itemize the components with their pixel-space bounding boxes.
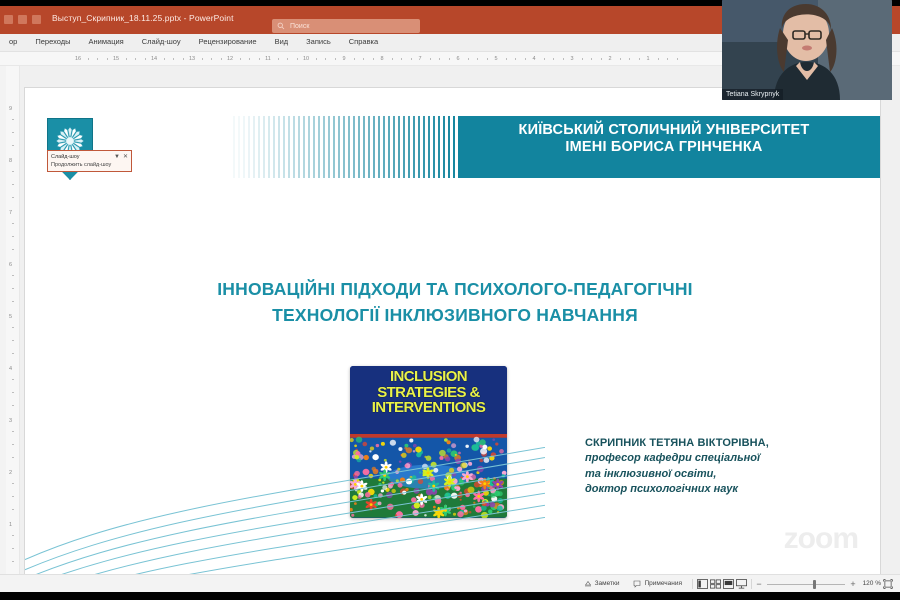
ruler-tick bbox=[354, 58, 355, 60]
ruler-tick bbox=[677, 58, 678, 60]
header-stripe bbox=[418, 116, 420, 178]
v-ruler-tick bbox=[12, 301, 14, 302]
ruler-tick bbox=[335, 58, 336, 60]
header-stripe bbox=[373, 116, 375, 178]
status-divider bbox=[692, 579, 693, 589]
header-stripe bbox=[348, 116, 350, 178]
header-stripe bbox=[398, 116, 400, 178]
university-name: КИЇВСЬКИЙ СТОЛИЧНИЙ УНІВЕРСИТЕТ ІМЕНІ БО… bbox=[464, 122, 864, 156]
header-stripe bbox=[388, 116, 390, 178]
slide-1[interactable]: КИЇВСЬКИЙ СТОЛИЧНИЙ УНІВЕРСИТЕТ ІМЕНІ БО… bbox=[25, 88, 880, 574]
ruler-mark-11: 5 bbox=[494, 56, 497, 62]
ruler-mark-15: 1 bbox=[646, 56, 649, 62]
header-stripe bbox=[313, 116, 315, 178]
notes-label: Заметки bbox=[595, 580, 620, 587]
header-stripe bbox=[338, 116, 340, 178]
ruler-tick bbox=[316, 58, 317, 60]
v-ruler-tick bbox=[12, 223, 14, 224]
v-ruler-tick bbox=[12, 327, 14, 328]
search-placeholder: Поиск bbox=[290, 23, 309, 30]
ruler-tick bbox=[544, 58, 545, 60]
v-ruler-tick bbox=[12, 171, 14, 172]
ruler-tick bbox=[126, 58, 127, 60]
slide-title: ІННОВАЦІЙНІ ПІДХОДИ ТА ПСИХОЛОГО-ПЕДАГОГ… bbox=[85, 276, 825, 328]
v-ruler-tick bbox=[12, 457, 14, 458]
header-stripe bbox=[443, 116, 445, 178]
header-stripe bbox=[408, 116, 410, 178]
ruler-tick bbox=[620, 58, 621, 60]
slideshow-popup-title: Слайд-шоу bbox=[51, 154, 111, 160]
ruler-tick bbox=[183, 58, 184, 60]
ruler-mark-0: 16 bbox=[75, 56, 81, 62]
v-ruler-mark-7: 2 bbox=[9, 470, 12, 476]
header-stripe bbox=[438, 116, 440, 178]
ruler-mark-12: 4 bbox=[532, 56, 535, 62]
v-ruler-tick bbox=[12, 483, 14, 484]
window-title: Выступ_Скрипник_18.11.25.pptx - PowerPoi… bbox=[52, 13, 234, 23]
ruler-tick bbox=[325, 58, 326, 60]
ruler-tick bbox=[553, 58, 554, 60]
undo-icon[interactable] bbox=[32, 15, 41, 24]
ruler-tick bbox=[506, 58, 507, 60]
ribbon-tab-0[interactable]: ор bbox=[0, 37, 26, 46]
slide-editing-canvas[interactable]: КИЇВСЬКИЙ СТОЛИЧНИЙ УНІВЕРСИТЕТ ІМЕНІ БО… bbox=[20, 66, 900, 574]
ruler-mark-3: 13 bbox=[189, 56, 195, 62]
ruler-tick bbox=[392, 58, 393, 60]
header-stripe bbox=[453, 116, 455, 178]
book-cover-artwork bbox=[350, 434, 507, 518]
fit-to-window-icon bbox=[883, 579, 893, 589]
header-stripe bbox=[268, 116, 270, 178]
view-reading-button[interactable] bbox=[722, 578, 735, 590]
header-stripe bbox=[448, 116, 450, 178]
v-ruler-tick bbox=[12, 496, 14, 497]
ruler-tick bbox=[287, 58, 288, 60]
book-title-line3: INTERVENTIONS bbox=[350, 400, 507, 416]
ruler-tick bbox=[211, 58, 212, 60]
ruler-tick bbox=[525, 58, 526, 60]
v-ruler-tick bbox=[12, 145, 14, 146]
header-stripe bbox=[288, 116, 290, 178]
ruler-tick bbox=[658, 58, 659, 60]
ribbon-tab-1[interactable]: Переходы bbox=[26, 37, 79, 46]
university-name-line1: КИЇВСЬКИЙ СТОЛИЧНИЙ УНІВЕРСИТЕТ bbox=[464, 122, 864, 139]
ruler-tick bbox=[164, 58, 165, 60]
header-stripe bbox=[323, 116, 325, 178]
save-icon[interactable] bbox=[18, 15, 27, 24]
header-stripe bbox=[363, 116, 365, 178]
v-ruler-tick bbox=[12, 119, 14, 120]
header-stripe bbox=[308, 116, 310, 178]
presenter-role-line1: професор кафедри спеціальної bbox=[585, 451, 880, 467]
ruler-tick bbox=[601, 58, 602, 60]
v-ruler-tick bbox=[12, 509, 14, 510]
v-ruler-tick bbox=[12, 405, 14, 406]
book-title-line1: INCLUSION bbox=[350, 369, 507, 385]
ruler-tick bbox=[363, 58, 364, 60]
zoom-slider-handle[interactable] bbox=[813, 580, 816, 589]
slideshow-resume-action[interactable]: Продолжить слайд-шоу bbox=[51, 162, 111, 168]
v-ruler-tick bbox=[12, 132, 14, 133]
ruler-tick bbox=[249, 58, 250, 60]
header-stripe bbox=[258, 116, 260, 178]
header-stripe bbox=[353, 116, 355, 178]
chevron-down-icon[interactable]: ▼ bbox=[114, 154, 120, 160]
participant-name: Tetiana Skrypnyk bbox=[726, 91, 779, 98]
zoom-out-button[interactable]: − bbox=[755, 579, 763, 589]
fit-slide-button[interactable] bbox=[881, 578, 894, 590]
notes-icon bbox=[584, 580, 592, 588]
slideshow-icon bbox=[736, 579, 747, 589]
ruler-tick bbox=[582, 58, 583, 60]
zoom-slider-track bbox=[767, 584, 845, 585]
vertical-ruler[interactable]: 987654321 bbox=[6, 66, 20, 574]
v-ruler-mark-0: 9 bbox=[9, 106, 12, 112]
ruler-tick bbox=[411, 58, 412, 60]
slide-sorter-icon bbox=[710, 579, 721, 589]
notes-button[interactable]: Заметки bbox=[577, 580, 627, 588]
view-slideshow-button[interactable] bbox=[735, 578, 748, 590]
status-divider-2 bbox=[751, 579, 752, 589]
view-slide-sorter-button[interactable] bbox=[709, 578, 722, 590]
v-ruler-tick bbox=[12, 444, 14, 445]
header-stripe bbox=[328, 116, 330, 178]
presenter-role-line2: та інклюзивної освіти, bbox=[585, 467, 880, 483]
university-name-line2: ІМЕНІ БОРИСА ГРІНЧЕНКА bbox=[464, 139, 864, 156]
v-ruler-mark-8: 1 bbox=[9, 522, 12, 528]
ruler-tick bbox=[107, 58, 108, 60]
ruler-tick bbox=[515, 58, 516, 60]
ruler-tick bbox=[629, 58, 630, 60]
v-ruler-tick bbox=[12, 431, 14, 432]
header-stripe bbox=[238, 116, 240, 178]
v-ruler-tick bbox=[12, 379, 14, 380]
v-ruler-tick bbox=[12, 197, 14, 198]
ruler-tick bbox=[487, 58, 488, 60]
search-box[interactable]: Поиск bbox=[272, 19, 420, 33]
v-ruler-tick bbox=[12, 340, 14, 341]
v-ruler-tick bbox=[12, 353, 14, 354]
zoom-level-label[interactable]: 120 % bbox=[857, 580, 881, 587]
v-ruler-mark-3: 6 bbox=[9, 262, 12, 268]
ruler-tick bbox=[145, 58, 146, 60]
header-stripes-decoration bbox=[230, 116, 460, 178]
ruler-tick bbox=[477, 58, 478, 60]
header-stripe bbox=[283, 116, 285, 178]
header-stripe bbox=[423, 116, 425, 178]
ribbon-tab-2[interactable]: Анимация bbox=[80, 37, 133, 46]
ruler-mark-8: 8 bbox=[380, 56, 383, 62]
header-stripe bbox=[298, 116, 300, 178]
ruler-mark-14: 2 bbox=[608, 56, 611, 62]
close-icon[interactable]: ✕ bbox=[123, 153, 128, 160]
book-title-line2: STRATEGIES & bbox=[350, 385, 507, 401]
slideshow-popup[interactable]: Слайд-шоу ▼ ✕ Продолжить слайд-шоу bbox=[47, 150, 132, 172]
ruler-mark-10: 6 bbox=[456, 56, 459, 62]
slideshow-popup-header: Слайд-шоу ▼ ✕ bbox=[51, 153, 128, 160]
header-stripe bbox=[253, 116, 255, 178]
ruler-mark-2: 14 bbox=[151, 56, 157, 62]
v-ruler-mark-5: 4 bbox=[9, 366, 12, 372]
ruler-tick bbox=[430, 58, 431, 60]
slide-title-line1: ІННОВАЦІЙНІ ПІДХОДИ ТА ПСИХОЛОГО-ПЕДАГОГ… bbox=[85, 276, 825, 302]
ruler-tick bbox=[563, 58, 564, 60]
comments-label: Примечания bbox=[644, 580, 682, 587]
v-ruler-tick bbox=[12, 288, 14, 289]
v-ruler-tick bbox=[12, 392, 14, 393]
search-icon bbox=[277, 22, 285, 30]
ribbon-tab-7[interactable]: Справка bbox=[340, 37, 387, 46]
reading-view-icon bbox=[723, 579, 734, 589]
ribbon-tab-4[interactable]: Рецензирование bbox=[190, 37, 266, 46]
header-stripe bbox=[358, 116, 360, 178]
header-stripe bbox=[243, 116, 245, 178]
zoom-shared-screen-window: Выступ_Скрипник_18.11.25.pptx - PowerPoi… bbox=[0, 0, 900, 600]
ruler-tick bbox=[240, 58, 241, 60]
ruler-mark-6: 10 bbox=[303, 56, 309, 62]
v-ruler-tick bbox=[12, 236, 14, 237]
ruler-tick bbox=[88, 58, 89, 60]
ruler-tick bbox=[297, 58, 298, 60]
v-ruler-tick bbox=[12, 184, 14, 185]
zoom-watermark: zoom bbox=[784, 522, 858, 556]
book-cover-image: INCLUSION STRATEGIES & INTERVENTIONS bbox=[350, 366, 507, 518]
ribbon-tab-5[interactable]: Вид bbox=[266, 37, 298, 46]
ruler-tick bbox=[202, 58, 203, 60]
view-normal-button[interactable] bbox=[696, 578, 709, 590]
ruler-tick bbox=[439, 58, 440, 60]
presenter-info: СКРИПНИК ТЕТЯНА ВІКТОРІВНА, професор каф… bbox=[585, 436, 880, 498]
header-stripe bbox=[393, 116, 395, 178]
presenter-name: СКРИПНИК ТЕТЯНА ВІКТОРІВНА, bbox=[585, 436, 880, 451]
header-stripe bbox=[303, 116, 305, 178]
header-stripe bbox=[248, 116, 250, 178]
ruler-tick bbox=[173, 58, 174, 60]
status-bar: Заметки Примечания bbox=[0, 574, 900, 592]
comments-button[interactable]: Примечания bbox=[626, 580, 689, 588]
ruler-mark-7: 9 bbox=[342, 56, 345, 62]
header-stripe bbox=[333, 116, 335, 178]
ruler-tick bbox=[221, 58, 222, 60]
header-stripe bbox=[318, 116, 320, 178]
v-ruler-tick bbox=[12, 249, 14, 250]
ribbon-tab-3[interactable]: Слайд-шоу bbox=[133, 37, 190, 46]
header-stripe bbox=[273, 116, 275, 178]
v-ruler-tick bbox=[12, 548, 14, 549]
ruler-tick bbox=[639, 58, 640, 60]
header-stripe bbox=[383, 116, 385, 178]
v-ruler-mark-1: 8 bbox=[9, 158, 12, 164]
header-stripe bbox=[368, 116, 370, 178]
quick-access-toolbar[interactable] bbox=[4, 15, 41, 24]
header-stripe bbox=[378, 116, 380, 178]
zoom-in-button[interactable]: + bbox=[849, 579, 857, 589]
comment-icon bbox=[633, 580, 641, 588]
ruler-mark-4: 12 bbox=[227, 56, 233, 62]
ruler-tick bbox=[373, 58, 374, 60]
ruler-tick bbox=[591, 58, 592, 60]
ruler-tick bbox=[449, 58, 450, 60]
ruler-tick bbox=[97, 58, 98, 60]
zoom-slider[interactable] bbox=[767, 579, 845, 589]
header-stripe bbox=[413, 116, 415, 178]
v-ruler-tick bbox=[12, 275, 14, 276]
header-stripe bbox=[433, 116, 435, 178]
header-stripe bbox=[403, 116, 405, 178]
ribbon-tab-6[interactable]: Запись bbox=[297, 37, 340, 46]
ruler-tick bbox=[401, 58, 402, 60]
ruler-tick bbox=[135, 58, 136, 60]
participant-name-badge: Tetiana Skrypnyk bbox=[722, 89, 783, 100]
webcam-thumbnail[interactable]: Tetiana Skrypnyk bbox=[722, 0, 892, 100]
v-ruler-mark-2: 7 bbox=[9, 210, 12, 216]
header-stripe bbox=[428, 116, 430, 178]
v-ruler-mark-6: 3 bbox=[9, 418, 12, 424]
ribbon-tabs: орПереходыАнимацияСлайд-шоуРецензировани… bbox=[0, 37, 387, 46]
v-ruler-tick bbox=[12, 561, 14, 562]
normal-view-icon bbox=[697, 579, 708, 589]
ruler-mark-9: 7 bbox=[418, 56, 421, 62]
webcam-person-silhouette bbox=[722, 0, 892, 100]
ruler-mark-1: 15 bbox=[113, 56, 119, 62]
ruler-mark-13: 3 bbox=[570, 56, 573, 62]
v-ruler-tick bbox=[12, 535, 14, 536]
header-stripe bbox=[293, 116, 295, 178]
header-stripe bbox=[233, 116, 235, 178]
header-stripe bbox=[343, 116, 345, 178]
ruler-tick bbox=[667, 58, 668, 60]
autosave-icon[interactable] bbox=[4, 15, 13, 24]
header-stripe bbox=[263, 116, 265, 178]
book-title: INCLUSION STRATEGIES & INTERVENTIONS bbox=[350, 369, 507, 416]
header-stripe bbox=[278, 116, 280, 178]
ruler-tick bbox=[278, 58, 279, 60]
ruler-tick bbox=[468, 58, 469, 60]
slide-title-line2: ТЕХНОЛОГІЇ ІНКЛЮЗИВНОГО НАВЧАННЯ bbox=[85, 302, 825, 328]
presenter-role-line3: доктор психологічних наук bbox=[585, 482, 880, 498]
ruler-mark-5: 11 bbox=[265, 56, 271, 62]
v-ruler-mark-4: 5 bbox=[9, 314, 12, 320]
ruler-tick bbox=[259, 58, 260, 60]
